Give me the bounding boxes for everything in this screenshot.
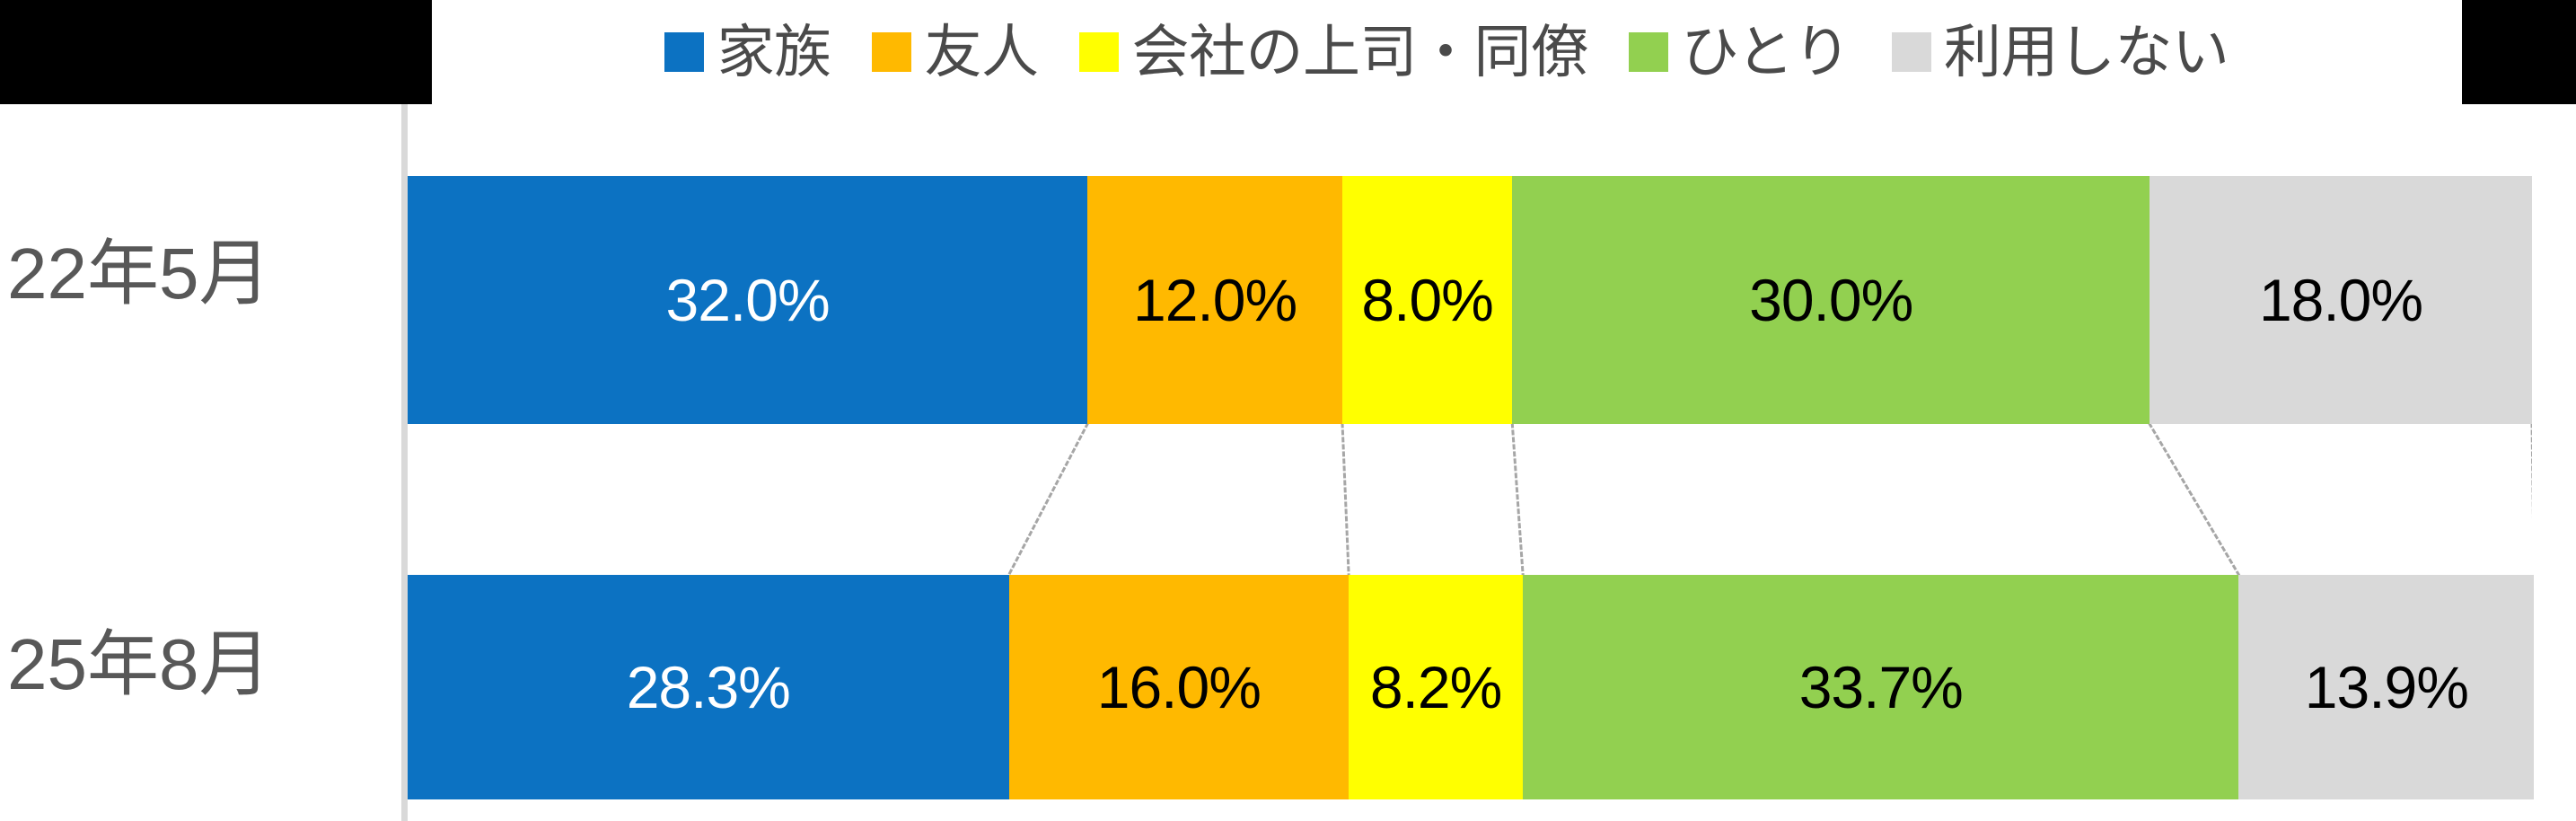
legend-swatch-icon [1079,32,1119,72]
legend-swatch-icon [1892,32,1931,72]
value-axis-line [401,104,408,821]
legend-swatch-icon [872,32,911,72]
legend-item-label: 友人 [924,23,1038,81]
category-axis-label-0: 22年5月 [0,238,386,310]
bar-segment-1-4[interactable]: 13.9% [2238,575,2534,799]
bar-segment-0-3[interactable]: 30.0% [1512,176,2150,424]
legend-item-label: 家族 [717,23,831,81]
bar-segment-label: 8.0% [1361,270,1492,330]
stacked-bar-row-1: 28.3% 16.0% 8.2% 33.7% 13.9% [408,575,2532,799]
legend-swatch-icon [1629,32,1668,72]
top-left-mask-band [0,0,432,104]
bar-segment-label: 12.0% [1133,270,1297,330]
chart-legend: 家族 友人 会社の上司・同僚 ひとり 利用しない [432,0,2462,104]
bar-segment-label: 18.0% [2259,270,2422,330]
legend-item-0[interactable]: 家族 [664,23,831,81]
bar-segment-0-1[interactable]: 12.0% [1087,176,1342,424]
legend-item-2[interactable]: 会社の上司・同僚 [1079,23,1587,81]
bar-segment-label: 28.3% [627,658,790,717]
bar-segment-label: 8.2% [1370,658,1501,717]
bar-segment-label: 16.0% [1097,658,1261,717]
bar-segment-label: 13.9% [2305,658,2468,717]
bar-segment-label: 30.0% [1749,270,1912,330]
category-axis-label-1: 25年8月 [0,629,386,701]
legend-item-label: 会社の上司・同僚 [1131,23,1587,81]
legend-item-label: 利用しない [1944,23,2229,81]
top-right-mask-band [2462,0,2576,104]
chart-plot-area: 32.0% 12.0% 8.0% 30.0% 18.0% 28.3% 16.0%… [401,104,2532,821]
legend-item-4[interactable]: 利用しない [1892,23,2229,81]
stacked-bar-row-0: 32.0% 12.0% 8.0% 30.0% 18.0% [408,176,2532,424]
bar-segment-1-0[interactable]: 28.3% [408,575,1009,799]
legend-item-1[interactable]: 友人 [872,23,1038,81]
bar-segment-0-2[interactable]: 8.0% [1342,176,1512,424]
bar-segment-1-3[interactable]: 33.7% [1523,575,2238,799]
series-connector-lines [408,424,2532,575]
legend-item-3[interactable]: ひとり [1629,23,1851,81]
legend-item-label: ひとり [1681,23,1851,81]
bar-segment-label: 33.7% [1799,658,1963,717]
bar-segment-0-0[interactable]: 32.0% [408,176,1087,424]
bar-segment-label: 32.0% [665,270,829,330]
bar-segment-1-2[interactable]: 8.2% [1349,575,1523,799]
bar-segment-0-4[interactable]: 18.0% [2150,176,2532,424]
bar-segment-1-1[interactable]: 16.0% [1009,575,1350,799]
legend-swatch-icon [664,32,704,72]
